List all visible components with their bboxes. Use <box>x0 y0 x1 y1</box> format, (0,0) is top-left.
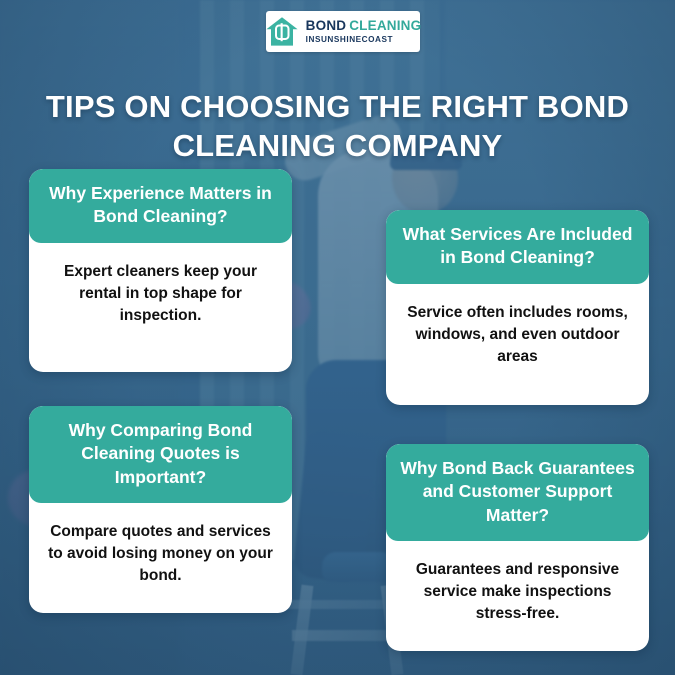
tip-card-2-heading: What Services Are Included in Bond Clean… <box>386 210 649 284</box>
tip-card-3-body: Compare quotes and services to avoid los… <box>29 503 292 613</box>
house-with-b-icon <box>265 16 299 47</box>
infographic-poster: BONDCLEANING INSUNSHINECOAST TIPS ON CHO… <box>0 0 675 675</box>
page-title: TIPS ON CHOOSING THE RIGHT BOND CLEANING… <box>0 87 675 166</box>
tip-card-4-body: Guarantees and responsive service make i… <box>386 541 649 651</box>
tip-card-1: Why Experience Matters in Bond Cleaning?… <box>29 169 292 372</box>
tip-card-2-body: Service often includes rooms, windows, a… <box>386 284 649 405</box>
tip-card-1-body: Expert cleaners keep your rental in top … <box>29 243 292 372</box>
tip-card-3-heading: Why Comparing Bond Cleaning Quotes is Im… <box>29 406 292 503</box>
tip-card-1-heading: Why Experience Matters in Bond Cleaning? <box>29 169 292 243</box>
logo-wordmark: BONDCLEANING INSUNSHINECOAST <box>306 19 422 44</box>
logo-tagline: INSUNSHINECOAST <box>306 36 422 44</box>
tip-card-3: Why Comparing Bond Cleaning Quotes is Im… <box>29 406 292 613</box>
tip-card-4: Why Bond Back Guarantees and Customer Su… <box>386 444 649 651</box>
logo-word-cleaning: CLEANING <box>349 18 421 33</box>
logo-word-bond: BOND <box>306 18 347 33</box>
tip-card-2: What Services Are Included in Bond Clean… <box>386 210 649 405</box>
tip-card-4-heading: Why Bond Back Guarantees and Customer Su… <box>386 444 649 541</box>
brand-logo[interactable]: BONDCLEANING INSUNSHINECOAST <box>266 11 420 52</box>
